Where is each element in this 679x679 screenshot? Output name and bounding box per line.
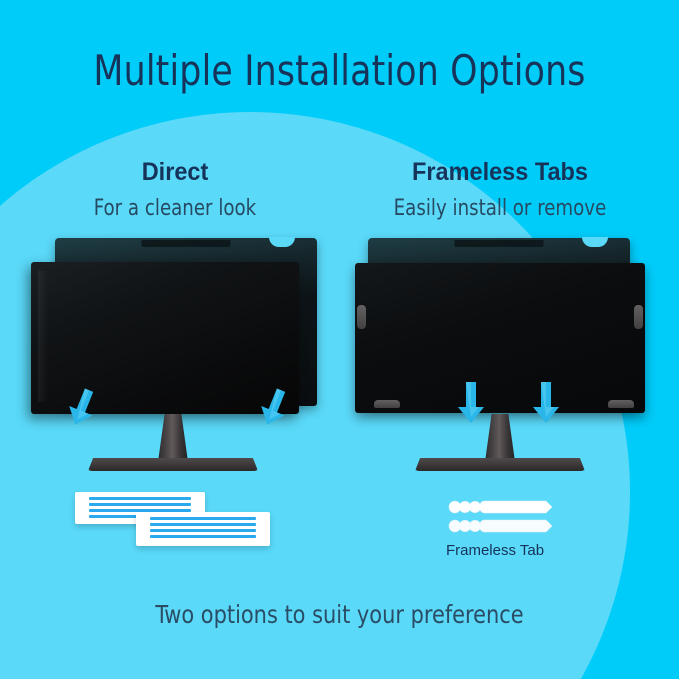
frameless-tab-nub-bottom-right bbox=[608, 400, 634, 408]
column-subheading-frameless-tabs: Easily install or remove bbox=[357, 196, 642, 221]
frameless-tab-nub-left bbox=[357, 305, 366, 329]
frameless-tab-caption: Frameless Tab bbox=[400, 542, 590, 559]
frameless-tab-nub-right bbox=[634, 305, 643, 329]
frameless-tab-strip-2 bbox=[443, 517, 553, 540]
frameless-tab-nub-bottom-left bbox=[374, 400, 400, 408]
page-tagline: Two options to suit your preference bbox=[24, 600, 655, 629]
install-arrow-direct-2 bbox=[252, 386, 292, 431]
monitor-webcam-notch-icon-right bbox=[582, 237, 608, 247]
monitor-stand-base-frameless bbox=[415, 458, 585, 471]
monitor-stand-base-direct bbox=[88, 458, 258, 471]
column-subheading-direct: For a cleaner look bbox=[32, 196, 317, 221]
install-arrow-frameless-2 bbox=[530, 382, 562, 429]
adhesive-strip-lines-2 bbox=[150, 517, 256, 541]
infographic-canvas: Multiple Installation Options Direct For… bbox=[0, 0, 679, 679]
adhesive-strip-2 bbox=[136, 512, 270, 546]
install-arrow-frameless-1 bbox=[455, 382, 487, 429]
privacy-filter-panel-frameless bbox=[355, 263, 645, 413]
page-title: Multiple Installation Options bbox=[27, 46, 652, 95]
column-heading-frameless-tabs: Frameless Tabs bbox=[364, 158, 637, 187]
monitor-webcam-notch-icon bbox=[269, 237, 295, 247]
install-arrow-direct-1 bbox=[60, 386, 100, 431]
column-heading-direct: Direct bbox=[39, 158, 312, 187]
